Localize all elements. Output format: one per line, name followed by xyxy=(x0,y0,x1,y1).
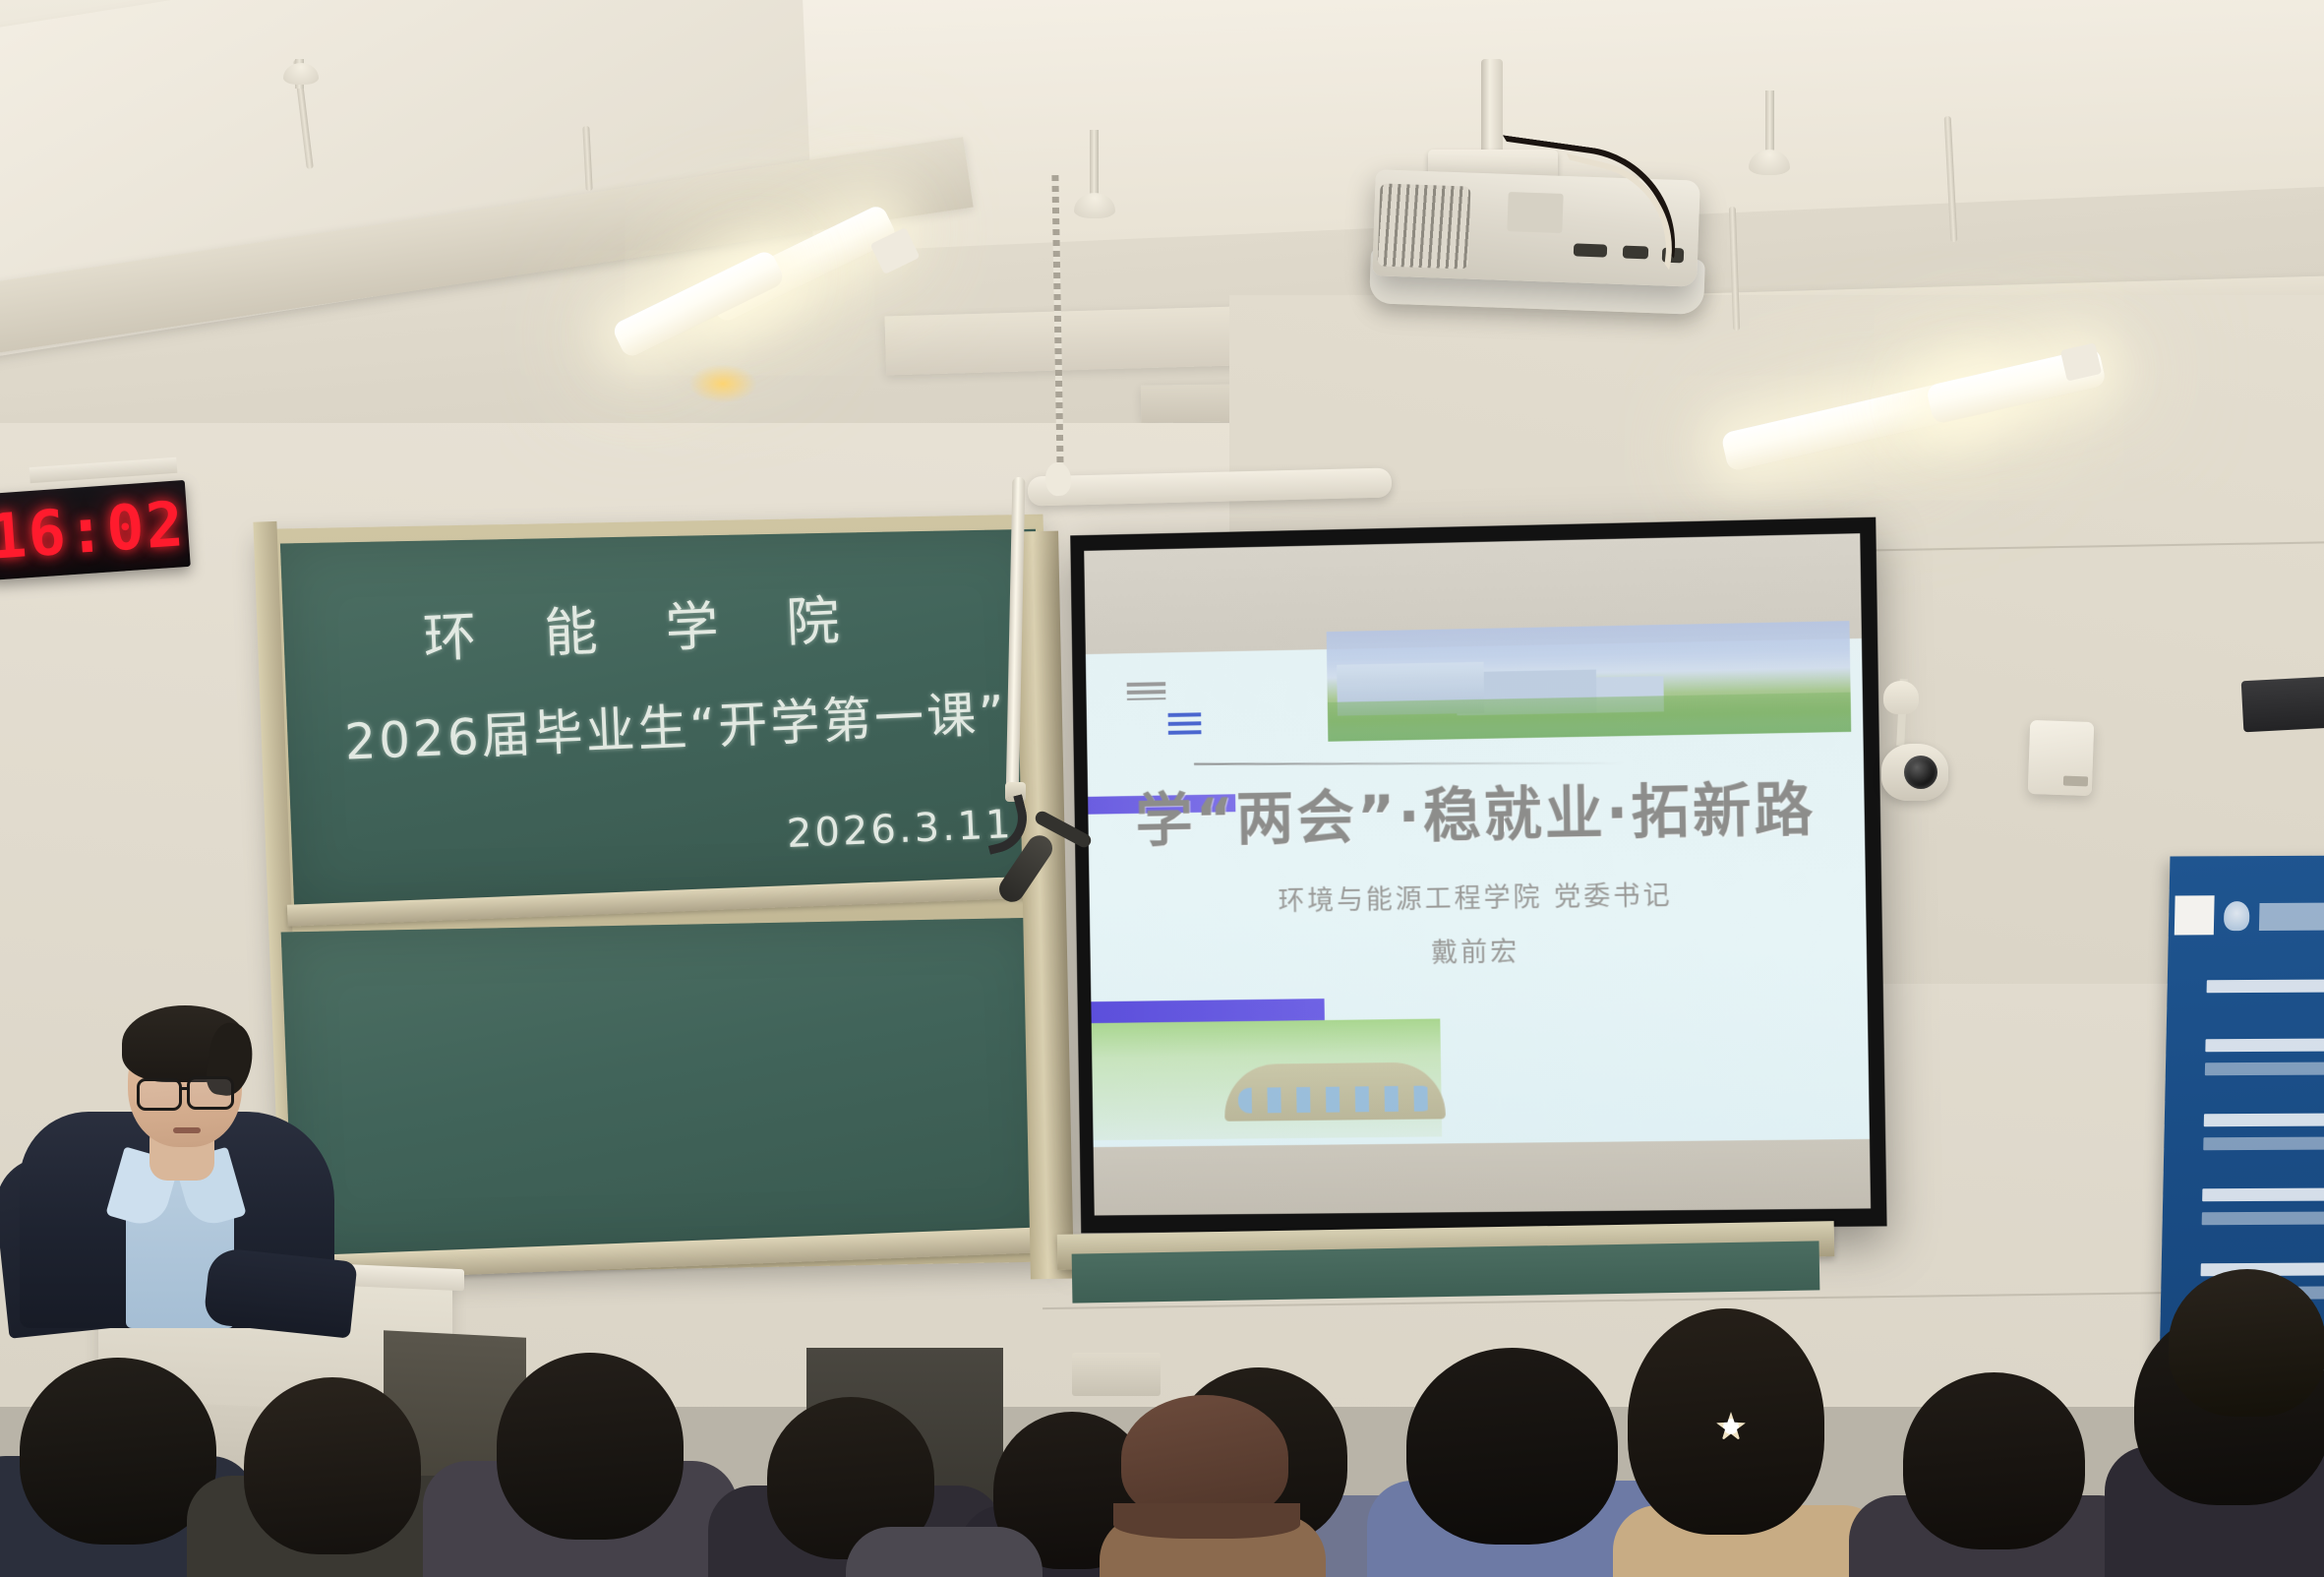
slide-title: 学“两会”·稳就业·拓新路 xyxy=(1088,761,1865,858)
slide-bridge-arch-openings xyxy=(1238,1086,1434,1114)
slide-subtitle-department: 环境与能源工程学院 党委书记 xyxy=(1089,871,1866,921)
camera-lens xyxy=(1904,756,1937,789)
audience-head xyxy=(497,1353,684,1540)
wall-ac-unit xyxy=(2241,677,2324,733)
audience-head xyxy=(1406,1348,1618,1545)
poster-header-bar xyxy=(2259,902,2324,931)
wall-vent xyxy=(1072,1353,1161,1396)
poster-text-line xyxy=(2204,1113,2324,1126)
poster-text-line xyxy=(2202,1211,2324,1225)
presenter-arm xyxy=(203,1246,357,1338)
poster-white-tab xyxy=(2175,895,2215,935)
ceiling-lamp-stub-1 xyxy=(1090,130,1099,197)
poster-text-line xyxy=(2202,1187,2324,1201)
poster-text-line xyxy=(2203,1136,2324,1150)
audience-head xyxy=(1628,1308,1824,1535)
projection-screen-surface: 学“两会”·稳就业·拓新路 环境与能源工程学院 党委书记 戴前宏 xyxy=(1084,533,1871,1215)
slide-accent-bar-lower xyxy=(1084,999,1325,1023)
screen-bottom-band xyxy=(1094,1139,1871,1216)
ceiling-lamp-stub-2 xyxy=(1765,91,1774,155)
slide-decoration-lines-gray xyxy=(1127,682,1166,700)
presenter-glasses-bridge xyxy=(181,1087,190,1090)
clock-time-text: 16:02 xyxy=(0,488,188,574)
poster-text-line xyxy=(2205,1061,2324,1075)
presenter-glasses-right-lens xyxy=(187,1076,234,1110)
blackboard-panel-lower xyxy=(281,918,1049,1257)
audience-hat-brim xyxy=(1113,1503,1300,1539)
slide-decoration-lines-blue xyxy=(1168,712,1202,735)
audience-hat xyxy=(1121,1395,1288,1521)
wall-digital-clock: 16:02 xyxy=(0,480,191,580)
projection-screen-frame: 学“两会”·稳就业·拓新路 环境与能源工程学院 党委书记 戴前宏 xyxy=(1070,517,1886,1234)
slide-hairline-rule xyxy=(1194,762,1625,765)
presenter-glasses-left-lens xyxy=(137,1078,182,1111)
presenter-mouth xyxy=(173,1127,201,1133)
lecture-hall-scene: 16:02 环 能 学 院 2026届毕业生“开学第一课” 2026.3.11 … xyxy=(0,0,2324,1577)
slide-campus-photo xyxy=(1327,621,1852,742)
tube-warm-glow-left xyxy=(688,364,757,403)
poster-emblem-icon xyxy=(2224,901,2250,931)
poster-text-line xyxy=(2207,980,2324,994)
audience-head xyxy=(1903,1372,2085,1549)
audience-head xyxy=(2169,1269,2324,1417)
camera-ceiling-cap xyxy=(1883,681,1919,714)
wall-box-slot xyxy=(2063,776,2088,787)
audience-head xyxy=(244,1377,421,1554)
slide-subtitle-presenter: 戴前宏 xyxy=(1090,925,1867,974)
poster-text-line xyxy=(2205,1038,2324,1052)
audience-shoulders xyxy=(846,1527,1043,1577)
projector-vent-grille xyxy=(1378,183,1471,269)
